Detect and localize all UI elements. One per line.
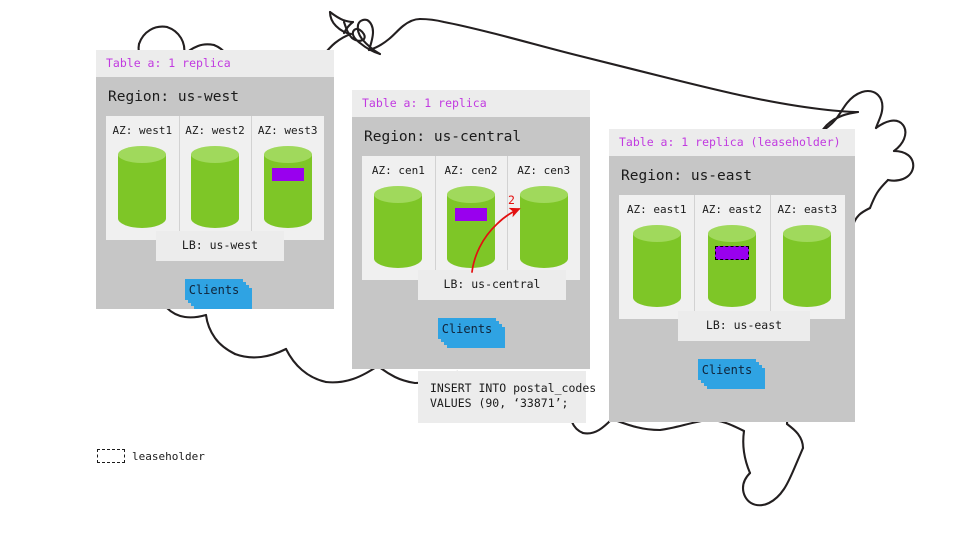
region-body-us-west: Region: us-west AZ: west1 AZ: west2 [96, 77, 334, 309]
load-balancer-us-east[interactable]: LB: us-east [678, 311, 810, 341]
sql-statement-box: INSERT INTO postal_codes VALUES (90, ‘33… [418, 371, 586, 423]
node-cylinder-cen3[interactable] [520, 186, 568, 268]
cylinder-body-icon [783, 233, 831, 307]
clients-stack-us-west[interactable]: Clients [185, 279, 253, 309]
az-west1[interactable]: AZ: west1 [106, 116, 179, 240]
region-title-us-central: Region: us-central [362, 117, 580, 157]
cylinder-top-icon [264, 146, 312, 163]
region-card-us-east: Table a: 1 replica (leaseholder) Region:… [609, 129, 855, 422]
region-header-us-west: Table a: 1 replica [96, 50, 334, 77]
az-strip-us-west: AZ: west1 AZ: west2 AZ: west3 [106, 116, 324, 240]
routing-arrow-label: 2 [508, 195, 515, 207]
node-cylinder-east2[interactable] [708, 225, 756, 307]
az-east3[interactable]: AZ: east3 [770, 195, 845, 319]
cylinder-top-icon [520, 186, 568, 203]
diagram-canvas: Table a: 1 replica Region: us-west AZ: w… [0, 0, 960, 540]
az-label-west2: AZ: west2 [185, 125, 245, 136]
replica-marker-east2-leaseholder[interactable] [715, 246, 749, 260]
az-west2[interactable]: AZ: west2 [179, 116, 252, 240]
node-cylinder-east1[interactable] [633, 225, 681, 307]
cylinder-body-icon [191, 154, 239, 228]
cylinder-top-icon [374, 186, 422, 203]
clients-button-us-central[interactable]: Clients [438, 318, 496, 339]
az-label-east2: AZ: east2 [702, 204, 762, 215]
load-balancer-us-central[interactable]: LB: us-central [418, 270, 566, 300]
cylinder-top-icon [118, 146, 166, 163]
az-label-cen3: AZ: cen3 [517, 165, 570, 176]
load-balancer-us-west[interactable]: LB: us-west [156, 231, 284, 261]
region-header-us-central: Table a: 1 replica [352, 90, 590, 117]
cylinder-top-icon [633, 225, 681, 242]
az-east1[interactable]: AZ: east1 [619, 195, 694, 319]
node-cylinder-west2[interactable] [191, 146, 239, 228]
az-cen3[interactable]: AZ: cen3 [507, 156, 580, 280]
replica-marker-cen2[interactable] [455, 208, 487, 221]
clients-button-us-east[interactable]: Clients [698, 359, 756, 380]
cylinder-body-icon [633, 233, 681, 307]
replica-marker-west3[interactable] [272, 168, 304, 181]
cylinder-top-icon [783, 225, 831, 242]
az-label-east1: AZ: east1 [627, 204, 687, 215]
legend-label: leaseholder [132, 451, 205, 462]
cylinder-body-icon [520, 194, 568, 268]
node-cylinder-east3[interactable] [783, 225, 831, 307]
az-label-cen1: AZ: cen1 [372, 165, 425, 176]
az-label-cen2: AZ: cen2 [445, 165, 498, 176]
cylinder-top-icon [447, 186, 495, 203]
clients-button-us-west[interactable]: Clients [185, 279, 243, 300]
cylinder-top-icon [708, 225, 756, 242]
leaseholder-swatch-icon [97, 449, 125, 463]
node-cylinder-cen2[interactable] [447, 186, 495, 268]
clients-stack-us-central[interactable]: Clients [438, 318, 506, 348]
az-strip-us-east: AZ: east1 AZ: east2 AZ: east3 [619, 195, 845, 319]
region-title-us-east: Region: us-east [619, 156, 845, 196]
cylinder-top-icon [191, 146, 239, 163]
cylinder-body-icon [708, 233, 756, 307]
cylinder-body-icon [374, 194, 422, 268]
az-cen2[interactable]: AZ: cen2 [435, 156, 508, 280]
region-card-us-west: Table a: 1 replica Region: us-west AZ: w… [96, 50, 334, 309]
az-cen1[interactable]: AZ: cen1 [362, 156, 435, 280]
cylinder-body-icon [447, 194, 495, 268]
cylinder-body-icon [118, 154, 166, 228]
node-cylinder-west1[interactable] [118, 146, 166, 228]
region-title-us-west: Region: us-west [106, 77, 324, 117]
region-header-us-east: Table a: 1 replica (leaseholder) [609, 129, 855, 156]
az-label-east3: AZ: east3 [778, 204, 838, 215]
node-cylinder-cen1[interactable] [374, 186, 422, 268]
node-cylinder-west3[interactable] [264, 146, 312, 228]
cylinder-body-icon [264, 154, 312, 228]
az-label-west3: AZ: west3 [258, 125, 318, 136]
region-card-us-central: Table a: 1 replica Region: us-central AZ… [352, 90, 590, 369]
az-west3[interactable]: AZ: west3 [251, 116, 324, 240]
clients-stack-us-east[interactable]: Clients [698, 359, 766, 389]
legend-leaseholder: leaseholder [97, 449, 205, 463]
az-strip-us-central: AZ: cen1 AZ: cen2 AZ: cen3 [362, 156, 580, 280]
az-label-west1: AZ: west1 [113, 125, 173, 136]
az-east2[interactable]: AZ: east2 [694, 195, 769, 319]
